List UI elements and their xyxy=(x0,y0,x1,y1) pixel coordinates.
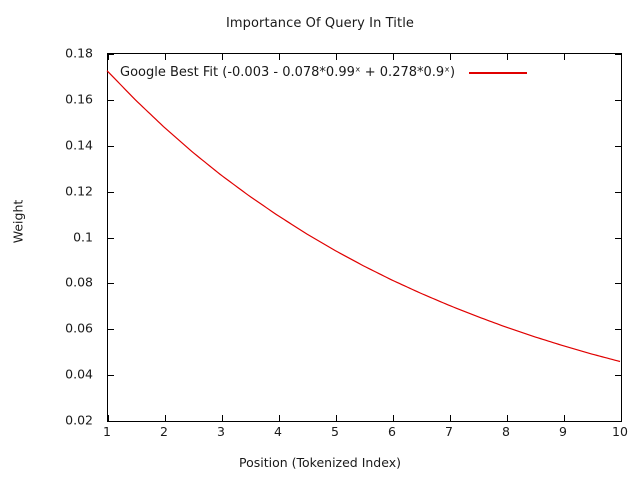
x-axis-tick-mark xyxy=(165,415,166,421)
y-axis-tick-label: 0.12 xyxy=(33,183,93,198)
x-axis-tick-label: 7 xyxy=(419,424,479,439)
x-axis-tick-mark xyxy=(165,54,166,60)
y-axis-tick-label: 0.18 xyxy=(33,46,93,61)
y-axis-tick-mark xyxy=(615,329,621,330)
x-axis-tick-label: 9 xyxy=(533,424,593,439)
x-axis-tick-mark xyxy=(507,415,508,421)
legend-entry-label: Google Best Fit (-0.003 - 0.078*0.99ˣ + … xyxy=(120,65,455,80)
y-axis-tick-label: 0.06 xyxy=(33,321,93,336)
x-axis-tick-mark xyxy=(222,415,223,421)
y-axis-tick-mark xyxy=(108,100,114,101)
x-axis-tick-mark xyxy=(336,54,337,60)
x-axis-tick-mark xyxy=(222,54,223,60)
x-axis-tick-mark xyxy=(279,54,280,60)
y-axis-tick-mark xyxy=(615,100,621,101)
y-axis-tick-label: 0.04 xyxy=(33,367,93,382)
x-axis-tick-mark xyxy=(393,54,394,60)
chart-container: Importance Of Query In Title 0.020.040.0… xyxy=(0,0,640,480)
x-axis-tick-label: 8 xyxy=(476,424,536,439)
x-axis-tick-mark xyxy=(336,415,337,421)
x-axis-tick-mark xyxy=(393,415,394,421)
x-axis-tick-label: 2 xyxy=(134,424,194,439)
y-axis-tick-mark xyxy=(615,375,621,376)
y-axis-tick-mark xyxy=(108,375,114,376)
x-axis-tick-mark xyxy=(564,415,565,421)
y-axis-tick-label: 0.1 xyxy=(33,229,93,244)
y-axis-tick-mark xyxy=(615,283,621,284)
y-axis-tick-label: 0.16 xyxy=(33,91,93,106)
x-axis-tick-mark xyxy=(450,54,451,60)
y-axis-tick-mark xyxy=(615,238,621,239)
y-axis-tick-label: 0.08 xyxy=(33,275,93,290)
x-axis-tick-label: 10 xyxy=(590,424,640,439)
x-axis-tick-mark xyxy=(621,415,622,421)
legend-color-key-icon xyxy=(469,72,527,74)
x-axis-tick-mark xyxy=(450,415,451,421)
y-axis-tick-mark xyxy=(108,238,114,239)
y-axis-tick-mark xyxy=(615,421,621,422)
x-axis-tick-mark xyxy=(108,415,109,421)
x-axis-tick-mark xyxy=(621,54,622,60)
x-axis-tick-mark xyxy=(507,54,508,60)
x-axis-tick-label: 3 xyxy=(191,424,251,439)
y-axis-tick-mark xyxy=(108,329,114,330)
y-axis-tick-label: 0.14 xyxy=(33,137,93,152)
x-axis-tick-label: 6 xyxy=(362,424,422,439)
x-axis-tick-label: 4 xyxy=(248,424,308,439)
y-axis-title: Weight xyxy=(11,182,26,262)
plot-area xyxy=(107,53,622,422)
y-axis-tick-mark xyxy=(108,283,114,284)
legend: Google Best Fit (-0.003 - 0.078*0.99ˣ + … xyxy=(120,63,527,82)
x-axis-tick-label: 5 xyxy=(305,424,365,439)
y-axis-tick-mark xyxy=(615,146,621,147)
y-axis-tick-mark xyxy=(108,146,114,147)
x-axis-title: Position (Tokenized Index) xyxy=(0,455,640,470)
x-axis-tick-mark xyxy=(564,54,565,60)
y-axis-tick-mark xyxy=(108,421,114,422)
x-axis-tick-label: 1 xyxy=(77,424,137,439)
y-axis-tick-mark xyxy=(615,192,621,193)
y-axis-tick-mark xyxy=(108,192,114,193)
x-axis-tick-mark xyxy=(279,415,280,421)
x-axis-tick-mark xyxy=(108,54,109,60)
chart-title: Importance Of Query In Title xyxy=(0,16,640,31)
